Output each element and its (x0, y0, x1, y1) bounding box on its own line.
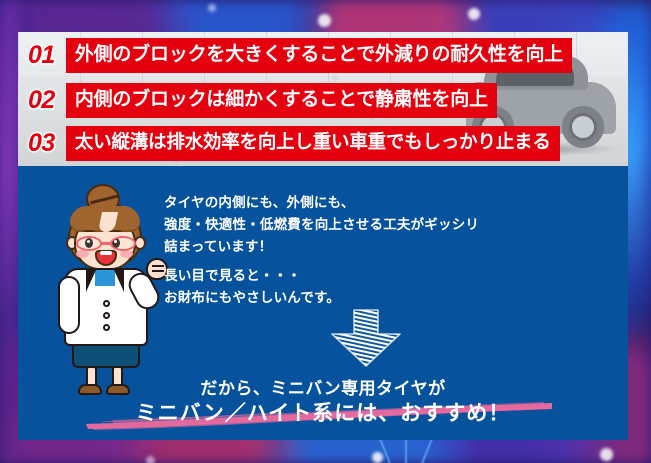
panel-paragraph-1: タイヤの内側にも、外側にも、 強度・快適性・低燃費を向上させる工夫がギッシリ 詰… (164, 192, 479, 258)
panel-paragraph-2: 長い目で見ると・・・ お財布にもやさしいんです。 (164, 265, 340, 309)
feature-text-03: 太い縦溝は排水効率を向上し重い車重でもしっかり止まる (66, 126, 560, 161)
feature-number-03: 03 (28, 131, 55, 156)
mascot-character (48, 184, 164, 376)
closing-line-2: ミニバン／ハイト系には、おすすめ！ (136, 398, 511, 430)
feature-number-01: 01 (28, 43, 55, 68)
feature-text-01: 外側のブロックを大きくすることで外減りの耐久性を向上 (66, 38, 572, 73)
feature-number-02: 02 (28, 88, 55, 113)
feature-banner-02[interactable]: 02 内側のブロックは細かくすることで静粛性を向上 (28, 83, 497, 118)
feature-banner-03[interactable]: 03 太い縦溝は排水効率を向上し重い車重でもしっかり止まる (28, 126, 560, 161)
down-arrow-icon (318, 308, 414, 368)
feature-text-02: 内側のブロックは細かくすることで静粛性を向上 (66, 83, 497, 118)
blue-info-panel: タイヤの内側にも、外側にも、 強度・快適性・低燃費を向上させる工夫がギッシリ 詰… (18, 166, 628, 440)
advertisement-stage: 01 外側のブロックを大きくすることで外減りの耐久性を向上 02 内側のブロック… (0, 0, 651, 463)
closing-line-1: だから、ミニバン専用タイヤが (18, 374, 628, 399)
feature-banner-01[interactable]: 01 外側のブロックを大きくすることで外減りの耐久性を向上 (28, 38, 572, 73)
closing-line-2-wrap: ミニバン／ハイト系には、おすすめ！ (18, 398, 628, 432)
